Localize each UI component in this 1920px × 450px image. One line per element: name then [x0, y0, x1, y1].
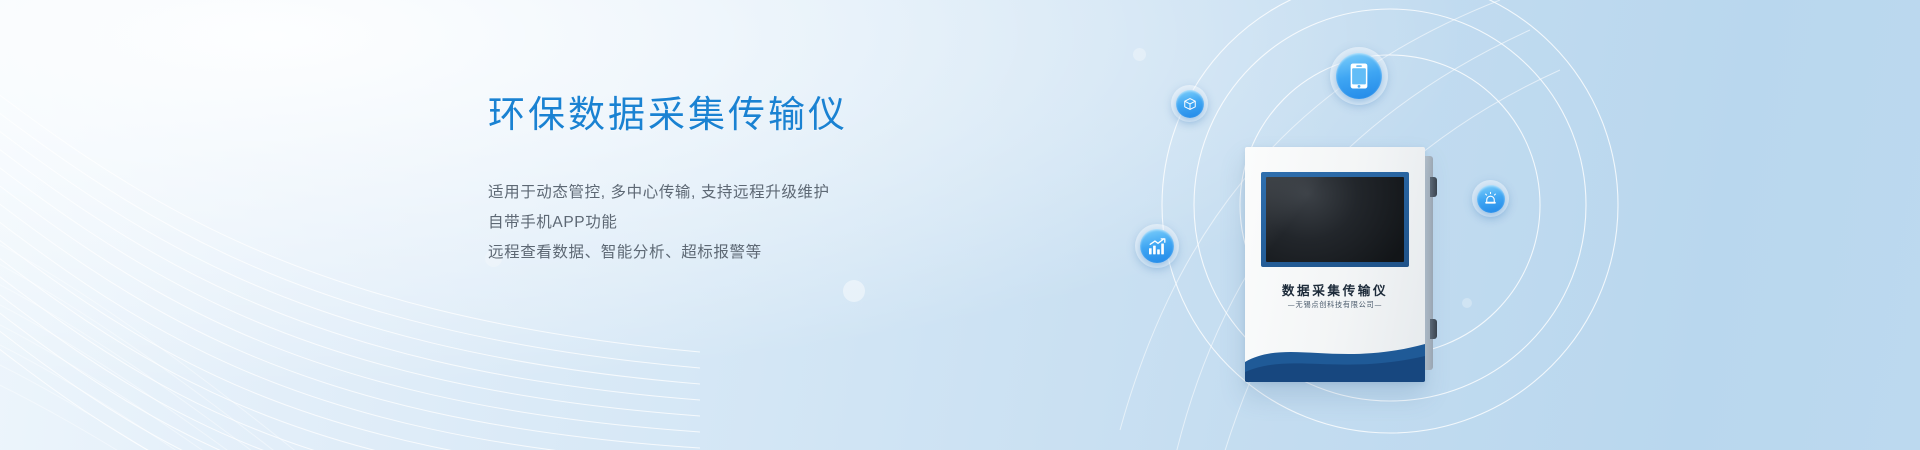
device-connector-bottom — [1430, 319, 1437, 339]
hero-subtitle-line-1: 适用于动态管控, 多中心传输, 支持远程升级维护 — [488, 178, 1048, 208]
alarm-siren-icon — [1483, 191, 1498, 206]
decorative-line-swirl-secondary — [0, 170, 440, 450]
floating-icon-mobile-phone[interactable] — [1330, 47, 1388, 105]
product-device-image: 数据采集传输仪 —无锡点创科技有限公司— — [1245, 147, 1425, 382]
device-screen-bezel — [1261, 172, 1409, 267]
cube-icon — [1183, 97, 1197, 111]
floating-icon-cube[interactable] — [1171, 85, 1208, 122]
device-label: 数据采集传输仪 — [1245, 280, 1425, 299]
hero-subtitle-line-2: 自带手机APP功能 — [488, 208, 1048, 238]
floating-icon-bar-chart[interactable] — [1135, 224, 1179, 268]
device-enclosure: 数据采集传输仪 —无锡点创科技有限公司— — [1245, 147, 1425, 382]
device-company-label: —无锡点创科技有限公司— — [1245, 300, 1425, 310]
bar-chart-icon — [1148, 238, 1167, 255]
device-connector-top — [1430, 177, 1437, 197]
hero-text-block: 环保数据采集传输仪 适用于动态管控, 多中心传输, 支持远程升级维护 自带手机A… — [488, 92, 1048, 268]
hero-subtitle-line-3: 远程查看数据、智能分析、超标报警等 — [488, 238, 1048, 268]
page-title: 环保数据采集传输仪 — [488, 92, 1048, 137]
floating-icon-alarm-siren[interactable] — [1472, 180, 1509, 217]
mobile-phone-icon — [1349, 63, 1369, 89]
device-screen — [1266, 177, 1404, 262]
bokeh-dot — [843, 280, 865, 302]
product-hero-banner: 环保数据采集传输仪 适用于动态管控, 多中心传输, 支持远程升级维护 自带手机A… — [0, 0, 1920, 450]
device-wave-graphic — [1245, 332, 1425, 382]
hero-subtitle-list: 适用于动态管控, 多中心传输, 支持远程升级维护 自带手机APP功能 远程查看数… — [488, 178, 1048, 268]
